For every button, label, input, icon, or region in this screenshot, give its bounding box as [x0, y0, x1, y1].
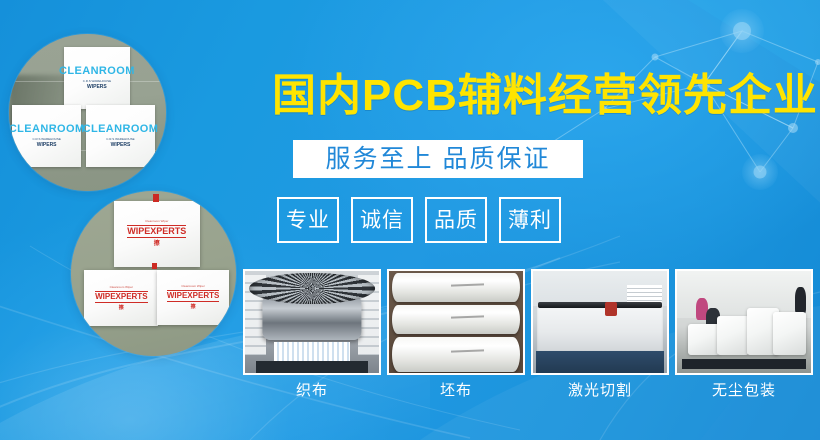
bale-brand-text: WIPEXPERTS: [127, 225, 186, 238]
bale-brand-text: WIPEXPERTS: [95, 291, 147, 303]
red-stamp: [153, 194, 159, 201]
thumbnail-caption: 激光切割: [531, 383, 669, 398]
feature-tag-label: 薄利: [508, 210, 552, 231]
package-line2-text: WIPERS: [111, 143, 131, 148]
material-stack: [627, 285, 662, 301]
process-step-greige-cloth[interactable]: 坯布: [387, 269, 525, 398]
bale-mark-text: 擦: [119, 306, 124, 311]
thumbnail-image-greige-cloth[interactable]: [387, 269, 525, 375]
machine-base: [256, 361, 369, 373]
knitting-machine-scene: [245, 271, 379, 373]
wipe-bale: Cleanroom Wiper WIPEXPERTS 擦: [157, 270, 230, 324]
wipe-bale: Cleanroom Wiper WIPEXPERTS 擦: [84, 270, 158, 326]
package-brand-text: CLEANROOM: [9, 124, 85, 135]
process-step-cleanroom-packing[interactable]: 无尘包装: [675, 269, 813, 398]
fabric-roll-scene: [389, 271, 523, 373]
cutting-bed: [537, 306, 663, 351]
laser-cutter-scene: [533, 271, 667, 373]
thumbnail-image-laser-cutting[interactable]: [531, 269, 669, 375]
wipe-bale: Cleanroom Wiper WIPEXPERTS 擦: [114, 201, 200, 267]
package-line2-text: WIPERS: [87, 85, 107, 90]
package-line2-text: WIPERS: [37, 143, 57, 148]
package-line1-text: C.R.S WAREHOUSE: [83, 80, 111, 83]
fabric-roll: [392, 305, 521, 335]
worker-figure: [795, 287, 806, 314]
packed-bale: [717, 316, 749, 355]
feature-tag-list: 专业 诚信 品质 薄利: [277, 197, 561, 243]
package-brand-text: CLEANROOM: [83, 124, 159, 135]
bale-top-text: Cleanroom Wiper: [145, 220, 168, 223]
packing-room-scene: [677, 271, 811, 373]
feature-tag-label: 诚信: [360, 210, 404, 231]
process-thumbnail-strip: 织布 坯布: [243, 269, 813, 398]
process-step-laser-cutting[interactable]: 激光切割: [531, 269, 669, 398]
roll-marking: [451, 283, 484, 286]
packed-bale: [688, 324, 720, 355]
bale-top-text: Cleanroom Wiper: [110, 286, 133, 289]
feature-tag-label: 专业: [286, 210, 330, 231]
bale-brand-text: WIPEXPERTS: [167, 290, 219, 302]
circle-photo-wipexperts-bales: Cleanroom Wiper WIPEXPERTS 擦 Cleanroom W…: [71, 191, 236, 356]
thumbnail-image-cleanroom-packing[interactable]: [675, 269, 813, 375]
machine-cabinet: [536, 351, 665, 373]
process-step-weaving[interactable]: 织布: [243, 269, 381, 398]
roll-marking: [451, 315, 484, 318]
slogan-box: 服务至上 品质保证: [293, 140, 583, 178]
bale-mark-text: 擦: [154, 241, 160, 247]
laser-head: [605, 302, 617, 316]
thumbnail-caption: 织布: [243, 383, 381, 398]
promotional-banner: CLEANROOM C.R.S WAREHOUSE WIPERS CLEANRO…: [0, 0, 820, 440]
package-line1-text: C.R.S WAREHOUSE: [32, 138, 60, 141]
wipe-package: CLEANROOM C.R.S WAREHOUSE WIPERS: [86, 105, 155, 168]
bale-top-text: Cleanroom Wiper: [181, 285, 204, 288]
package-brand-text: CLEANROOM: [59, 66, 135, 77]
fabric-roll: [392, 273, 521, 302]
packing-table: [682, 359, 805, 369]
circle-photo-cleanroom-wipes: CLEANROOM C.R.S WAREHOUSE WIPERS CLEANRO…: [9, 34, 166, 191]
thumbnail-image-weaving[interactable]: [243, 269, 381, 375]
feature-tag-professional[interactable]: 专业: [277, 197, 339, 243]
slogan-text: 服务至上 品质保证: [326, 147, 551, 172]
banner-headline: 国内PCB辅料经营领先企业: [272, 74, 818, 118]
packed-bale: [773, 312, 805, 355]
wipe-package: CLEANROOM C.R.S WAREHOUSE WIPERS: [64, 47, 130, 110]
feature-tag-integrity[interactable]: 诚信: [351, 197, 413, 243]
laser-gantry-rail: [538, 302, 661, 308]
fabric-roll: [392, 337, 521, 372]
red-stamp: [152, 263, 156, 270]
package-line1-text: C.R.S WAREHOUSE: [106, 138, 134, 141]
feature-tag-label: 品质: [434, 210, 478, 231]
wipe-package: CLEANROOM C.R.S WAREHOUSE WIPERS: [12, 105, 81, 168]
bale-mark-text: 擦: [191, 305, 196, 310]
roll-marking: [451, 350, 484, 353]
feature-tag-quality[interactable]: 品质: [425, 197, 487, 243]
feature-tag-low-margin[interactable]: 薄利: [499, 197, 561, 243]
thumbnail-caption: 无尘包装: [675, 383, 813, 398]
thumbnail-caption: 坯布: [387, 383, 525, 398]
needle-ring: [249, 273, 375, 304]
